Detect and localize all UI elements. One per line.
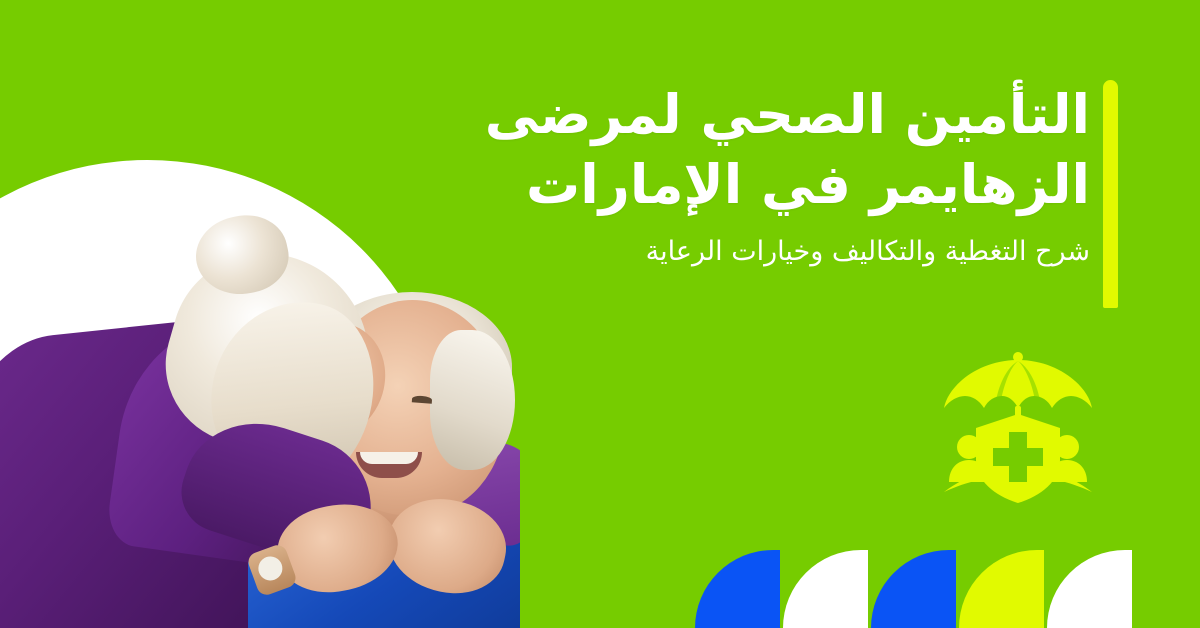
page-title: التأمين الصحي لمرضى الزهايمر في الإمارات	[430, 80, 1090, 220]
page-subtitle: شرح التغطية والتكاليف وخيارات الرعاية	[430, 234, 1090, 270]
fan-shape-4	[783, 550, 868, 628]
decorative-fan-shapes	[672, 550, 1132, 628]
fan-shape-2	[959, 550, 1044, 628]
insurance-umbrella-shield-family-icon	[938, 348, 1098, 508]
vertical-accent-bar	[1103, 80, 1118, 308]
patient-eye-right	[412, 395, 432, 403]
banner-root: التأمين الصحي لمرضى الزهايمر في الإمارات…	[0, 0, 1200, 628]
fan-shape-3	[871, 550, 956, 628]
fan-shape-5	[695, 550, 780, 628]
title-line-1: التأمين الصحي لمرضى	[430, 80, 1090, 150]
fan-shape-1	[1047, 550, 1132, 628]
headline-block: التأمين الصحي لمرضى الزهايمر في الإمارات…	[430, 80, 1090, 271]
patient-hair-side	[430, 330, 515, 470]
title-line-2: الزهايمر في الإمارات	[430, 150, 1090, 220]
